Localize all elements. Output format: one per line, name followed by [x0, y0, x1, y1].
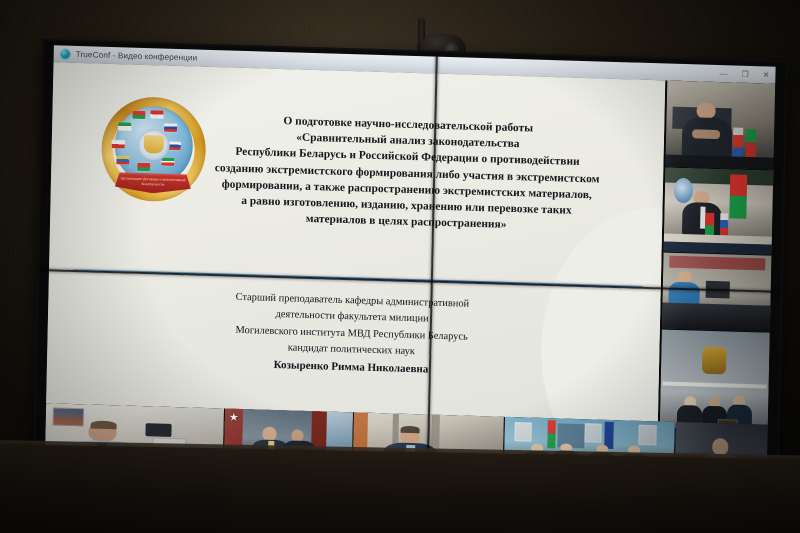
- close-icon[interactable]: ✕: [763, 71, 770, 79]
- video-wall-frame: TrueConf - Видео конференции — ❐ ✕: [34, 41, 785, 499]
- tile-right-2[interactable]: [664, 167, 774, 254]
- presentation-slide[interactable]: Организация Договора о коллективной безо…: [46, 62, 665, 421]
- tile-right-3[interactable]: [662, 252, 772, 331]
- app-title-text: TrueConf - Видео конференции: [76, 50, 198, 63]
- tile-right-1[interactable]: [665, 81, 775, 170]
- foreground-table: [0, 443, 800, 533]
- active-speaker-star-icon: ★: [229, 413, 240, 424]
- maximize-icon[interactable]: ❐: [741, 70, 748, 78]
- participant-column-right[interactable]: [660, 81, 775, 425]
- window-controls[interactable]: — ❐ ✕: [711, 65, 777, 84]
- slide-title-text: О подготовке научно-исследовательской ра…: [168, 110, 646, 238]
- slide-author-block: Старший преподаватель кафедры администра…: [131, 287, 573, 382]
- minimize-icon[interactable]: —: [719, 70, 727, 78]
- trueconf-app-icon: [60, 48, 71, 59]
- conference-room-scene: TrueConf - Видео конференции — ❐ ✕: [0, 0, 800, 533]
